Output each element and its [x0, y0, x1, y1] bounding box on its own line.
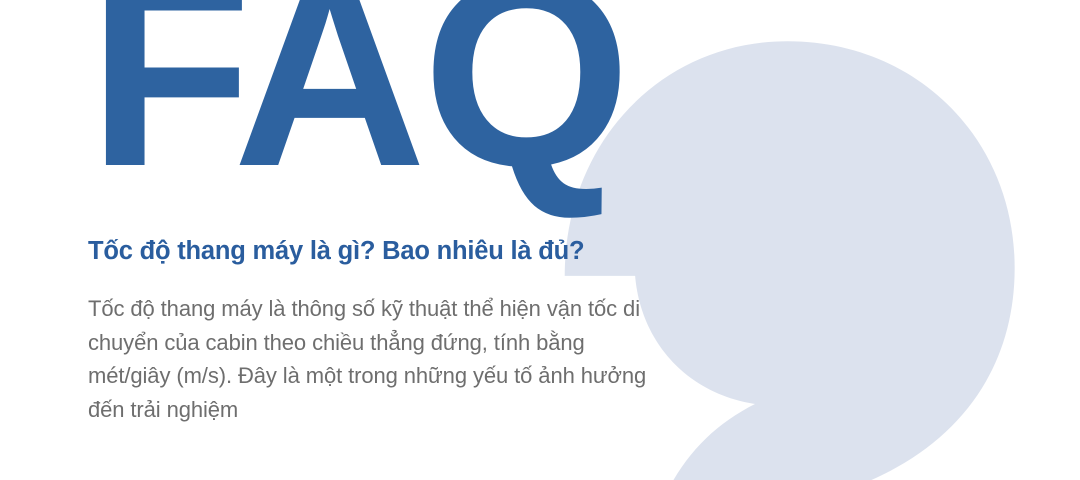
- faq-question: Tốc độ thang máy là gì? Bao nhiêu là đủ?: [88, 234, 648, 269]
- faq-item: Tốc độ thang máy là gì? Bao nhiêu là đủ?…: [88, 234, 648, 426]
- faq-answer: Tốc độ thang máy là thông số kỹ thuật th…: [88, 269, 648, 426]
- faq-page: FAQ Tốc độ thang máy là gì? Bao nhiêu là…: [0, 0, 1080, 480]
- page-title: FAQ: [88, 0, 627, 206]
